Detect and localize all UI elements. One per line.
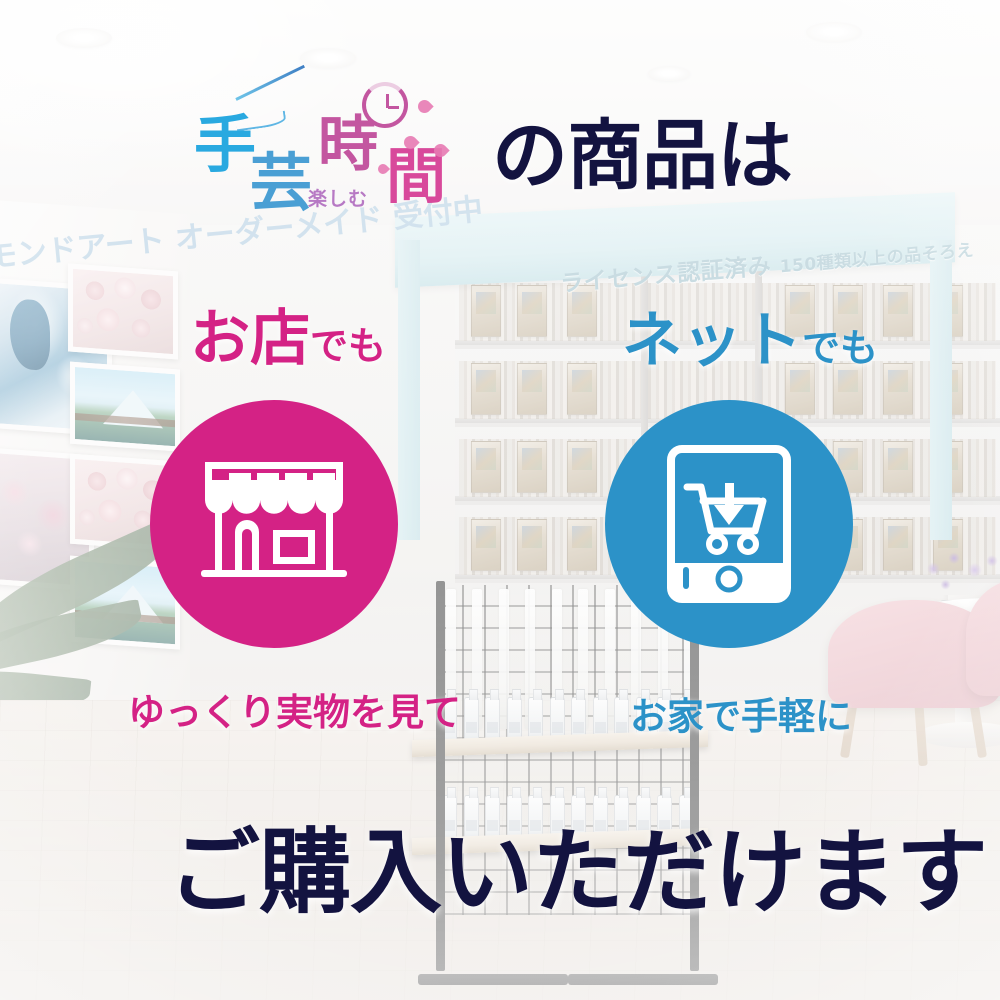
page-subtitle: ご購入いただけます bbox=[168, 798, 987, 931]
brand-logo[interactable]: 手 芸 時 間 楽しむ bbox=[190, 78, 490, 203]
logo-char-gei: 芸 bbox=[250, 132, 312, 222]
net-caption: お家で手軽に bbox=[630, 686, 852, 740]
store-caption: ゆっくり実物を見て bbox=[128, 682, 461, 736]
storefront-icon bbox=[199, 458, 349, 590]
net-label-suffix: でも bbox=[802, 326, 878, 370]
page-title: の商品は bbox=[492, 94, 792, 204]
net-label: ネットでも bbox=[622, 292, 878, 379]
overlay-layer: 手 芸 時 間 楽しむ の商品は お店でも ネットでも bbox=[0, 0, 1000, 1000]
store-label-suffix: でも bbox=[310, 324, 386, 368]
logo-subtitle: 楽しむ bbox=[308, 184, 368, 211]
store-label-main: お店 bbox=[190, 304, 310, 374]
smartphone-cart-icon bbox=[667, 445, 791, 603]
net-label-main: ネット bbox=[622, 306, 802, 376]
store-label: お店でも bbox=[190, 290, 386, 377]
logo-char-ji: 時 bbox=[318, 96, 378, 183]
petal-icon bbox=[415, 97, 433, 115]
logo-char-te: 手 bbox=[194, 94, 256, 184]
store-option-circle[interactable] bbox=[150, 400, 398, 648]
promo-banner: ライセンス認証済み 150種類以上の品そろえ bbox=[0, 0, 1000, 1000]
net-option-circle[interactable] bbox=[605, 400, 853, 648]
